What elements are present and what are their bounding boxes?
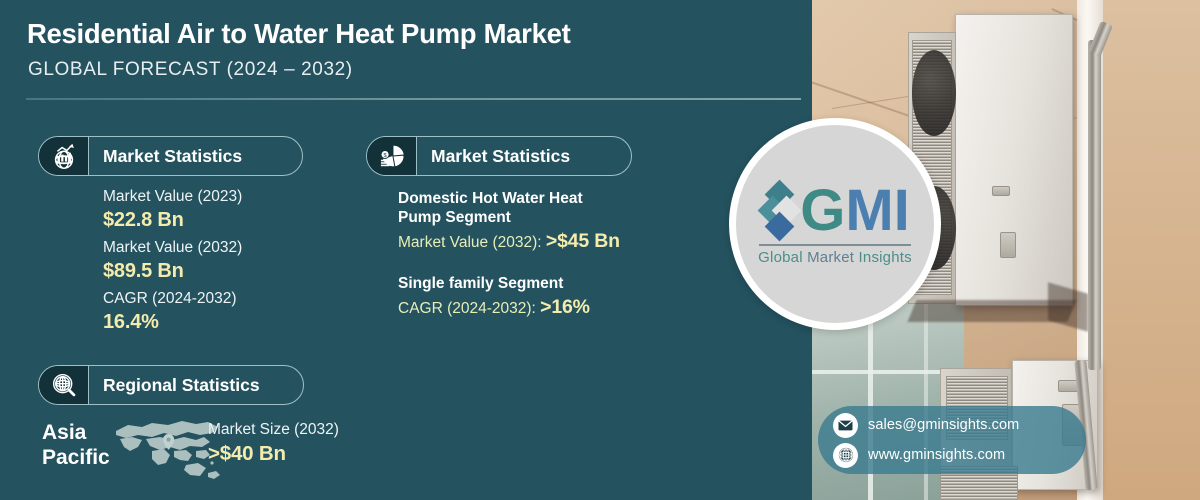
segment-title-line: Domestic Hot Water Heat	[398, 189, 620, 208]
logo-tagline: Global Market Insights	[758, 249, 912, 266]
page-title: Residential Air to Water Heat Pump Marke…	[27, 18, 570, 50]
logo-tagline-insights: Insights	[859, 249, 912, 266]
logo-divider	[759, 244, 911, 245]
heat-pump-label-plate	[1000, 232, 1016, 258]
segment-title-line: Single family Segment	[398, 274, 620, 293]
logo-letter-i: I	[894, 182, 908, 240]
regional-statistics-pill-label: Regional Statistics	[89, 375, 278, 396]
regional-metric-label: Market Size (2032)	[208, 419, 339, 441]
segment-metric-label: CAGR (2024-2032):	[398, 300, 536, 317]
contact-email-text: sales@gminsights.com	[868, 417, 1019, 433]
stat-value: 16.4%	[103, 309, 242, 336]
market-statistics-header-pill: Market Statistics	[38, 136, 303, 176]
segment-title-line: Pump Segment	[398, 208, 620, 227]
globe-magnifier-icon	[39, 366, 89, 404]
stat-label: Market Value (2032)	[103, 237, 242, 258]
segment-metric: Market Value (2032): >$45 Bn	[398, 228, 620, 256]
pie-chart-money-icon: $	[367, 137, 417, 175]
logo-letter-m: M	[845, 182, 891, 240]
contact-email-row[interactable]: sales@gminsights.com	[833, 413, 1086, 438]
segment-metric-value: >16%	[540, 296, 590, 318]
contact-info-pill: sales@gminsights.com www.gminsights.com	[818, 406, 1086, 474]
gmi-logo-wordmark: G M I	[762, 182, 908, 240]
segment-statistics-header-pill: $ Market Statistics	[366, 136, 632, 176]
region-name-line: Asia	[42, 420, 110, 445]
segment-block: Domestic Hot Water Heat Pump Segment Mar…	[398, 189, 620, 256]
bar-chart-globe-icon	[39, 137, 89, 175]
stat-row: CAGR (2024-2032) 16.4%	[103, 288, 242, 336]
envelope-icon	[833, 413, 858, 438]
segment-block: Single family Segment CAGR (2024-2032): …	[398, 274, 620, 322]
stat-row: Market Value (2032) $89.5 Bn	[103, 237, 242, 285]
gmi-diamond-mark-icon	[762, 182, 796, 240]
contact-website-row[interactable]: www.gminsights.com	[833, 443, 1086, 468]
segment-statistics-list: Domestic Hot Water Heat Pump Segment Mar…	[398, 189, 620, 322]
left-content-panel: Residential Air to Water Heat Pump Marke…	[0, 0, 812, 500]
page-subtitle: GLOBAL FORECAST (2024 – 2032)	[28, 59, 353, 81]
globe-icon	[833, 443, 858, 468]
stat-label: CAGR (2024-2032)	[103, 288, 242, 309]
segment-statistics-pill-label: Market Statistics	[417, 146, 588, 167]
infographic-canvas: Residential Air to Water Heat Pump Marke…	[0, 0, 1200, 500]
regional-metric: Market Size (2032) >$40 Bn	[208, 419, 339, 467]
logo-letter-g: G	[800, 182, 843, 240]
regional-metric-value: >$40 Bn	[208, 441, 339, 467]
heat-pump-vent-plate	[992, 186, 1010, 196]
logo-tagline-global: Global	[758, 249, 807, 266]
segment-metric-value: >$45 Bn	[546, 230, 620, 252]
logo-tagline-market: Market	[807, 249, 858, 266]
stat-value: $89.5 Bn	[103, 258, 242, 285]
stat-label: Market Value (2023)	[103, 186, 242, 207]
region-name-line: Pacific	[42, 445, 110, 470]
region-name: Asia Pacific	[42, 420, 110, 470]
stat-value: $22.8 Bn	[103, 207, 242, 234]
gmi-logo: G M I Global Market Insights	[729, 118, 941, 330]
market-statistics-pill-label: Market Statistics	[89, 146, 260, 167]
segment-metric-label: Market Value (2032):	[398, 234, 542, 251]
header-divider	[26, 98, 801, 100]
market-statistics-list: Market Value (2023) $22.8 Bn Market Valu…	[103, 186, 242, 339]
heat-pump-unit-upper	[955, 14, 1073, 306]
regional-statistics-header-pill: Regional Statistics	[38, 365, 304, 405]
segment-metric: CAGR (2024-2032): >16%	[398, 294, 620, 322]
heat-pump-fan-upper	[912, 50, 956, 136]
refrigerant-pipe-upper	[1088, 40, 1101, 370]
contact-website-text: www.gminsights.com	[868, 447, 1005, 463]
wall-right-section	[1103, 0, 1200, 500]
stat-row: Market Value (2023) $22.8 Bn	[103, 186, 242, 234]
